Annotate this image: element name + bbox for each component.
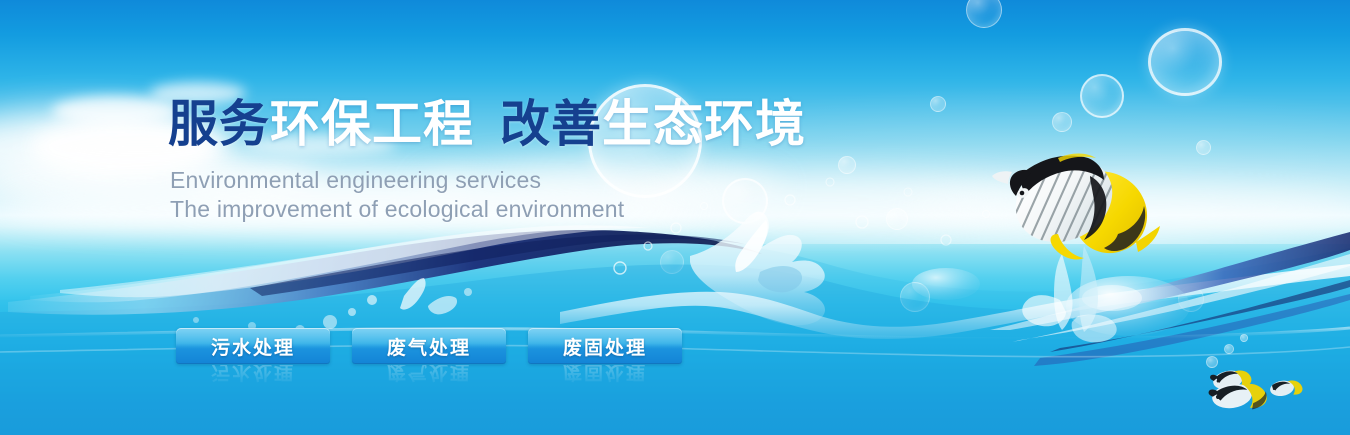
bubble-icon — [900, 282, 930, 312]
service-button-wastewater[interactable]: 污水处理 — [176, 328, 330, 364]
subtitle-line-1: Environmental engineering services — [170, 166, 928, 195]
banner-subtitle: Environmental engineering services The i… — [170, 166, 928, 225]
bubble-icon — [1224, 344, 1234, 354]
service-button-wastewater-reflection: 污水处理 — [176, 365, 330, 387]
subtitle-line-2: The improvement of ecological environmen… — [170, 195, 928, 224]
bubble-icon — [1080, 74, 1124, 118]
butterflyfish-icon — [986, 138, 1176, 278]
service-button-row: 污水处理 污水处理 废气处理 废气处理 废固处理 废固处理 — [176, 328, 682, 387]
cloud-icon — [52, 96, 180, 126]
bubble-icon — [660, 250, 684, 274]
banner-copy: 服务环保工程改善生态环境 Environmental engineering s… — [168, 96, 928, 225]
headline-segment-3: 改善 — [500, 96, 602, 152]
service-button-wastegas-reflection: 废气处理 — [352, 365, 506, 387]
hero-banner: 服务环保工程改善生态环境 Environmental engineering s… — [0, 0, 1350, 435]
headline-segment-2: 环保工程 — [270, 96, 474, 152]
service-button-wastegas[interactable]: 废气处理 — [352, 328, 506, 364]
bubble-icon — [1148, 28, 1222, 96]
service-button-solidwaste-unit: 废固处理 废固处理 — [528, 328, 682, 387]
bubble-icon — [1206, 356, 1218, 368]
bubble-icon — [1178, 286, 1204, 312]
service-button-solidwaste[interactable]: 废固处理 — [528, 328, 682, 364]
bubble-icon — [1052, 112, 1072, 132]
headline-segment-1: 服务 — [168, 96, 270, 152]
service-button-solidwaste-reflection: 废固处理 — [528, 365, 682, 387]
service-button-wastegas-unit: 废气处理 废气处理 — [352, 328, 506, 387]
butterflyfish-small-icon — [1204, 368, 1314, 416]
headline-segment-4: 生态环境 — [602, 96, 806, 152]
cloud-icon — [900, 186, 1350, 228]
bubble-icon — [1196, 140, 1211, 155]
bubble-icon — [1240, 334, 1248, 342]
page-title: 服务环保工程改善生态环境 — [168, 96, 928, 152]
bubble-icon — [930, 96, 946, 112]
bubble-icon — [966, 0, 1002, 28]
service-button-wastewater-unit: 污水处理 污水处理 — [176, 328, 330, 387]
